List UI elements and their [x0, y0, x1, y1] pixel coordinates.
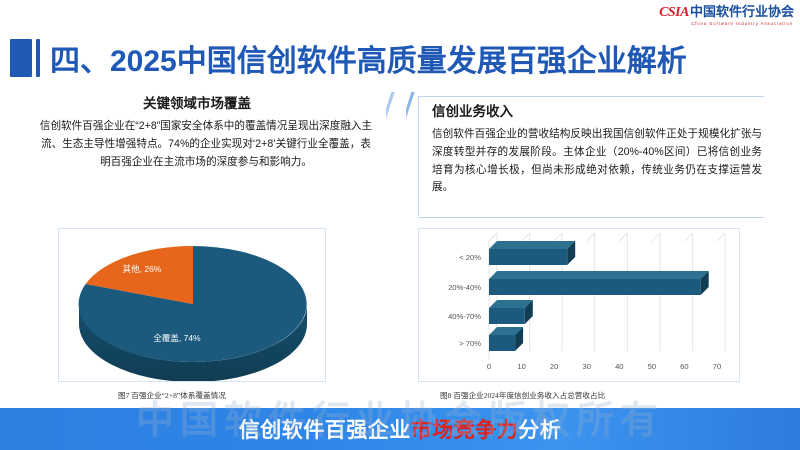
- page-title-text: 四、2025中国信创软件高质量发展百强企业解析: [50, 36, 687, 80]
- bar-20-40: [489, 271, 709, 295]
- bar-xtick-5: 50: [648, 362, 656, 371]
- logo-name-en: China Software Industry Association: [691, 22, 793, 26]
- pie-chart-svg: 全覆盖, 74% 其他, 26%: [59, 229, 327, 381]
- bar-xtick-7: 70: [713, 362, 721, 371]
- bar-xtick-4: 40: [615, 362, 623, 371]
- figure7-caption: 图7 百强企业“2+8”体系覆盖情况: [118, 390, 226, 401]
- text-cards: 关键领域市场覆盖 信创软件百强企业在“2+8”国家安全体系中的覆盖情况呈现出深度…: [0, 92, 800, 222]
- card-left-title: 关键领域市场覆盖: [28, 92, 400, 112]
- bar-xtick-3: 30: [582, 362, 590, 371]
- banner-text-part2: 分析: [518, 419, 561, 442]
- bar-chart-svg: < 20% 20%-40% 40%-70% > 70% 0 10 20 30 4…: [419, 229, 741, 381]
- card-xinchuang-revenue: 信创业务收入 信创软件百强企业的营收结构反映出我国信创软件正处于规模化扩张与深度…: [418, 92, 780, 220]
- logo-row: CSIA 中国软件行业协会: [659, 5, 794, 20]
- csia-logo: CSIA 中国软件行业协会 China Software Industry As…: [659, 5, 794, 26]
- bar-lt20: [489, 241, 575, 265]
- pie-label-other: 其他, 26%: [123, 264, 162, 274]
- bar-gt70: [489, 327, 523, 351]
- bar-category-label-0: < 20%: [459, 253, 481, 262]
- figure8-caption: 图8 百强企业2024年度信创业务收入占总营收占比: [440, 390, 605, 401]
- bar-xtick-2: 20: [550, 362, 558, 371]
- bar-category-label-3: > 70%: [459, 339, 481, 348]
- card-right-title: 信创业务收入: [418, 92, 780, 120]
- logo-mark-text: CSIA: [659, 6, 689, 20]
- bar-chart: < 20% 20%-40% 40%-70% > 70% 0 10 20 30 4…: [419, 229, 741, 383]
- bar-40-70: [489, 300, 533, 324]
- bottom-banner: 信创软件百强企业市场竞争力分析: [0, 408, 800, 450]
- card-left-body: 信创软件百强企业在“2+8”国家安全体系中的覆盖情况呈现出深度融入主流、生态主导…: [28, 118, 400, 171]
- card-key-domain-coverage: 关键领域市场覆盖 信创软件百强企业在“2+8”国家安全体系中的覆盖情况呈现出深度…: [28, 92, 400, 220]
- bar-category-label-1: 20%-40%: [448, 283, 481, 292]
- banner-text-part1: 信创软件百强企业: [239, 419, 411, 442]
- pie-chart-panel: 全覆盖, 74% 其他, 26%: [58, 228, 326, 382]
- card-right-body: 信创软件百强企业的营收结构反映出我国信创软件正处于规模化扩张与深度转型并存的发展…: [418, 126, 780, 197]
- bottom-banner-text: 信创软件百强企业市场竞争力分析: [239, 414, 562, 444]
- title-accent-block: [10, 39, 32, 77]
- bar-category-label-2: 40%-70%: [448, 312, 481, 321]
- page-title: 四、2025中国信创软件高质量发展百强企业解析: [10, 36, 687, 80]
- bar-xtick-1: 10: [517, 362, 525, 371]
- banner-text-highlight: 市场竞争力: [411, 419, 519, 442]
- bar-xtick-0: 0: [487, 362, 491, 371]
- bar-xtick-6: 60: [680, 362, 688, 371]
- bar-chart-panel: < 20% 20%-40% 40%-70% > 70% 0 10 20 30 4…: [418, 228, 740, 382]
- title-accent-bar: [36, 39, 40, 77]
- logo-name-cn: 中国软件行业协会: [690, 5, 794, 18]
- pie-chart: 全覆盖, 74% 其他, 26%: [59, 229, 325, 381]
- card-right-bottom-border: [418, 217, 764, 218]
- pie-label-full-coverage: 全覆盖, 74%: [153, 333, 201, 343]
